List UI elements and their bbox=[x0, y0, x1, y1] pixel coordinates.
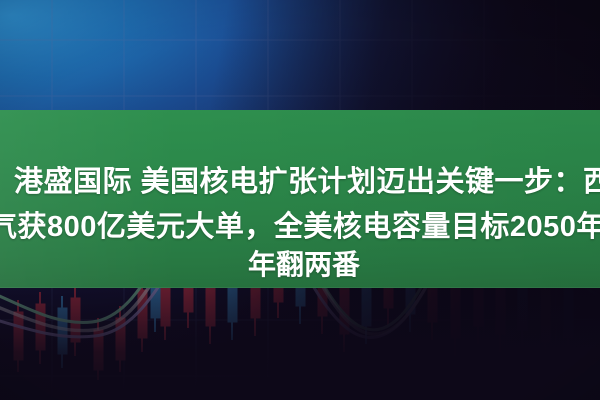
headline-line-3: 年翻两番 bbox=[248, 243, 360, 283]
headline-line-2: 气获800亿美元大单，全美核电容量目标2050年翻两番 bbox=[0, 203, 600, 245]
headline-line-1: 港盛国际 美国核电扩张计划迈出关键一步：西屋电 bbox=[14, 158, 600, 200]
headline-banner-image: 港盛国际 美国核电扩张计划迈出关键一步：西屋电 气获800亿美元大单，全美核电容… bbox=[0, 0, 600, 400]
